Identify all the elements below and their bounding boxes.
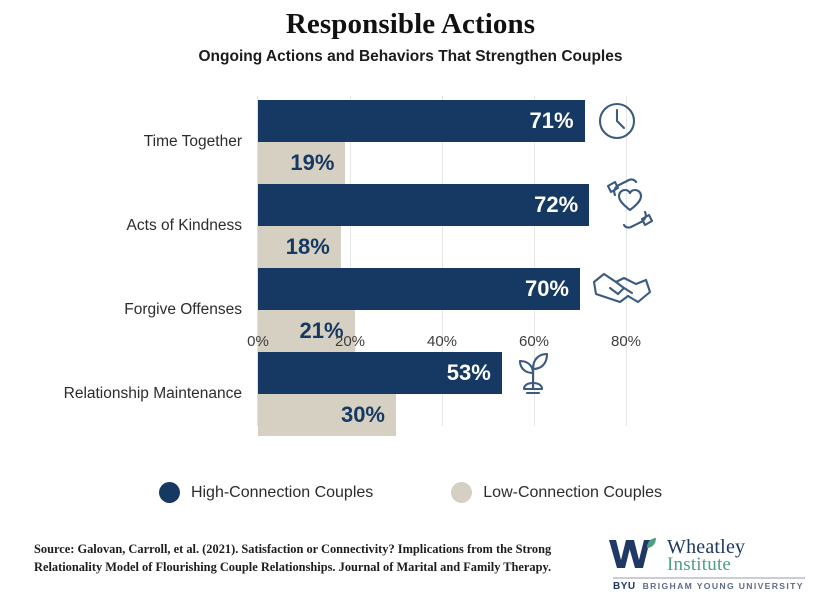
bar-low-1: 19%: [258, 142, 345, 184]
logo-lockup: Wheatley Institute: [607, 536, 807, 576]
page-subtitle: Ongoing Actions and Behaviors That Stren…: [0, 46, 821, 68]
page-title: Responsible Actions: [0, 6, 821, 42]
bar-value-label: 18%: [286, 236, 341, 258]
source-citation: Source: Galovan, Carroll, et al. (2021).…: [34, 540, 579, 576]
category-label-2: Acts of Kindness: [0, 217, 242, 235]
logo-wordmark: Wheatley Institute: [667, 539, 745, 573]
bar-high-1: 71%: [258, 100, 585, 142]
chart-plot-area: Time TogetherActs of KindnessForgive Off…: [0, 96, 821, 446]
legend-swatch-icon: [451, 482, 472, 503]
gridline: [534, 96, 535, 426]
x-tick-label: 60%: [519, 333, 549, 350]
category-label-4: Relationship Maintenance: [0, 385, 242, 403]
bar-value-label: 72%: [534, 194, 589, 216]
wheatley-institute-logo: Wheatley Institute BYU BRIGHAM YOUNG UNI…: [607, 536, 807, 594]
byu-lockup: BYU BRIGHAM YOUNG UNIVERSITY: [613, 581, 804, 592]
chart-legend: High-Connection CouplesLow-Connection Co…: [0, 482, 821, 503]
legend-swatch-icon: [159, 482, 180, 503]
logo-divider: [613, 577, 805, 579]
bar-value-label: 53%: [447, 362, 502, 384]
x-tick-label: 40%: [427, 333, 457, 350]
bar-value-label: 19%: [290, 152, 345, 174]
gridline: [626, 96, 627, 426]
bar-value-label: 71%: [530, 110, 585, 132]
bar-low-4: 30%: [258, 394, 396, 436]
wheatley-w-mark-icon: [607, 537, 659, 576]
x-tick-label: 0%: [247, 333, 269, 350]
bars-container: 71%19%72%18%70%21%53%30%: [258, 96, 718, 426]
byu-name-text: BRIGHAM YOUNG UNIVERSITY: [643, 581, 804, 591]
chart-page: Responsible Actions Ongoing Actions and …: [0, 0, 821, 615]
bar-high-2: 72%: [258, 184, 589, 226]
chart-footer: Source: Galovan, Carroll, et al. (2021).…: [0, 536, 821, 598]
bar-value-label: 70%: [525, 278, 580, 300]
legend-label: High-Connection Couples: [191, 484, 373, 502]
legend-item-1[interactable]: High-Connection Couples: [159, 482, 373, 503]
x-axis-ticks: 0%20%40%60%80%: [258, 333, 718, 357]
handshake-icon: [590, 266, 654, 317]
title-block: Responsible Actions Ongoing Actions and …: [0, 6, 821, 68]
logo-institute-text: Institute: [667, 556, 745, 573]
bar-low-2: 18%: [258, 226, 341, 268]
hands-heart-icon: [599, 174, 661, 241]
byu-mark-text: BYU: [613, 581, 636, 592]
category-axis-labels: Time TogetherActs of KindnessForgive Off…: [0, 96, 250, 426]
bar-high-3: 70%: [258, 268, 580, 310]
x-tick-label: 80%: [611, 333, 641, 350]
source-line-2: Relationality Model of Flourishing Coupl…: [34, 558, 579, 576]
category-label-1: Time Together: [0, 133, 242, 151]
legend-item-2[interactable]: Low-Connection Couples: [451, 482, 662, 503]
bar-value-label: 30%: [341, 404, 396, 426]
legend-label: Low-Connection Couples: [483, 484, 662, 502]
clock-icon: [595, 99, 639, 148]
category-label-3: Forgive Offenses: [0, 301, 242, 319]
x-tick-label: 20%: [335, 333, 365, 350]
bar-high-4: 53%: [258, 352, 502, 394]
source-line-1: Source: Galovan, Carroll, et al. (2021).…: [34, 540, 579, 558]
